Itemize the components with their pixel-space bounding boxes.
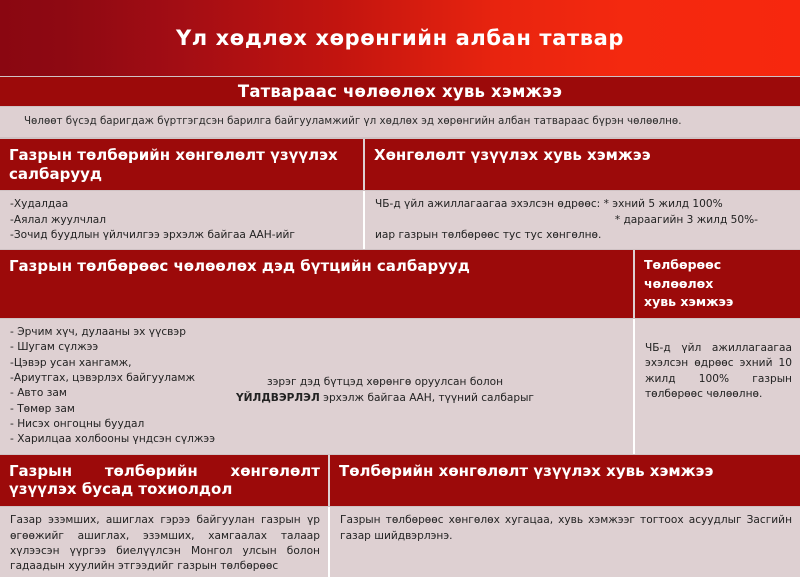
rate-line: * дараагийн 3 жилд 50%- bbox=[375, 213, 792, 228]
land-fee-body-row: -Худалдаа -Аялал жуулчлал -Зочид буудлын… bbox=[0, 191, 800, 249]
list-item: - Харилцаа холбооны үндсэн сүлжээ bbox=[10, 432, 625, 447]
list-item: - Шугам сүлжээ bbox=[10, 340, 625, 355]
infrastructure-center-rest: эрхэлж байгаа ААН, түүний салбарыг bbox=[320, 392, 534, 404]
other-cases-right-text: Газрын төлбөрөөс хөнгөлөх хугацаа, хувь … bbox=[330, 507, 800, 577]
exemption-note-text: Чөлөөт бүсэд баригдаж бүртгэгдсэн барилг… bbox=[24, 115, 786, 128]
infrastructure-rate-header: Төлбөрөөс чөлөөлөх хувь хэмжээ bbox=[635, 250, 800, 317]
other-cases-header-left: Газрын төлбөрийн хөнгөлөлт үзүүлэх бусад… bbox=[0, 455, 330, 507]
infrastructure-list-cell: - Эрчим хүч, дулааны эх үүсвэр - Шугам с… bbox=[0, 319, 635, 454]
infrastructure-center-bold: ҮЙЛДВЭРЛЭЛ bbox=[236, 392, 320, 404]
list-item: - Эрчим хүч, дулааны эх үүсвэр bbox=[10, 325, 625, 340]
land-fee-rate-header: Хөнгөлөлт үзүүлэх хувь хэмжээ bbox=[365, 139, 800, 191]
list-item: - Нисэх онгоцны буудал bbox=[10, 417, 625, 432]
rate-line: иар газрын төлбөрөөс тус тус хөнгөлнө. bbox=[375, 228, 792, 243]
infrastructure-rate-header-line: Төлбөрөөс bbox=[644, 256, 792, 274]
other-cases-body-row: Газар эзэмших, ашиглах гэрээ байгуулан г… bbox=[0, 507, 800, 577]
infrastructure-header-row: Газрын төлбөрөөс чөлөөлөх дэд бүтцийн са… bbox=[0, 249, 800, 318]
page-title: Үл хөдлөх хөрөнгийн албан татвар bbox=[176, 26, 624, 50]
other-cases-header-left-line-1: Газрын төлбөрийн хөнгөлөлт bbox=[9, 462, 320, 481]
list-item: -Худалдаа bbox=[10, 197, 355, 212]
infrastructure-center-line-2: ҮЙЛДВЭРЛЭЛ эрхэлж байгаа ААН, түүний сал… bbox=[150, 391, 620, 407]
infrastructure-center-note: зэрэг дэд бүтцэд хөрөнгө оруулсан болон … bbox=[150, 375, 620, 407]
other-cases-left-text: Газар эзэмших, ашиглах гэрээ байгуулан г… bbox=[0, 507, 330, 577]
infrastructure-rate-header-line: хувь хэмжээ bbox=[644, 293, 792, 311]
infrastructure-sectors-header: Газрын төлбөрөөс чөлөөлөх дэд бүтцийн са… bbox=[0, 250, 635, 317]
exemption-note-row: Чөлөөт бүсэд баригдаж бүртгэгдсэн барилг… bbox=[0, 107, 800, 138]
other-cases-header-left-line-2: үзүүлэх бусад тохиолдол bbox=[9, 480, 232, 498]
list-item: -Зочид буудлын үйлчилгээ эрхэлж байгаа А… bbox=[10, 228, 355, 243]
infrastructure-rate-header-line: чөлөөлөх bbox=[644, 275, 792, 293]
infrastructure-center-line-1: зэрэг дэд бүтцэд хөрөнгө оруулсан болон bbox=[150, 375, 620, 391]
land-fee-header-row: Газрын төлбөрийн хөнгөлөлт үзүүлэх салба… bbox=[0, 138, 800, 192]
exemption-rate-banner: Татвараас чөлөөлөх хувь хэмжээ bbox=[0, 76, 800, 107]
other-cases-header-right: Төлбөрийн хөнгөлөлт үзүүлэх хувь хэмжээ bbox=[330, 455, 800, 507]
land-fee-rate-text: ЧБ-д үйл ажиллагаагаа эхэлсэн өдрөөс: * … bbox=[365, 191, 800, 249]
exemption-rate-banner-label: Татвараас чөлөөлөх хувь хэмжээ bbox=[238, 82, 562, 101]
infrastructure-body-row: - Эрчим хүч, дулааны эх үүсвэр - Шугам с… bbox=[0, 319, 800, 454]
list-item: -Цэвэр усан хангамж, bbox=[10, 356, 625, 371]
slide-title-banner: Үл хөдлөх хөрөнгийн албан татвар bbox=[0, 0, 800, 76]
rate-line: ЧБ-д үйл ажиллагаагаа эхэлсэн өдрөөс: * … bbox=[375, 197, 792, 212]
infrastructure-rate-text: ЧБ-д үйл ажиллагаагаа эхэлсэн өдрөөс эхн… bbox=[635, 319, 800, 454]
land-fee-sectors-list: -Худалдаа -Аялал жуулчлал -Зочид буудлын… bbox=[0, 191, 365, 249]
list-item: -Аялал жуулчлал bbox=[10, 213, 355, 228]
land-fee-sectors-header: Газрын төлбөрийн хөнгөлөлт үзүүлэх салба… bbox=[0, 139, 365, 191]
other-cases-header-row: Газрын төлбөрийн хөнгөлөлт үзүүлэх бусад… bbox=[0, 454, 800, 508]
